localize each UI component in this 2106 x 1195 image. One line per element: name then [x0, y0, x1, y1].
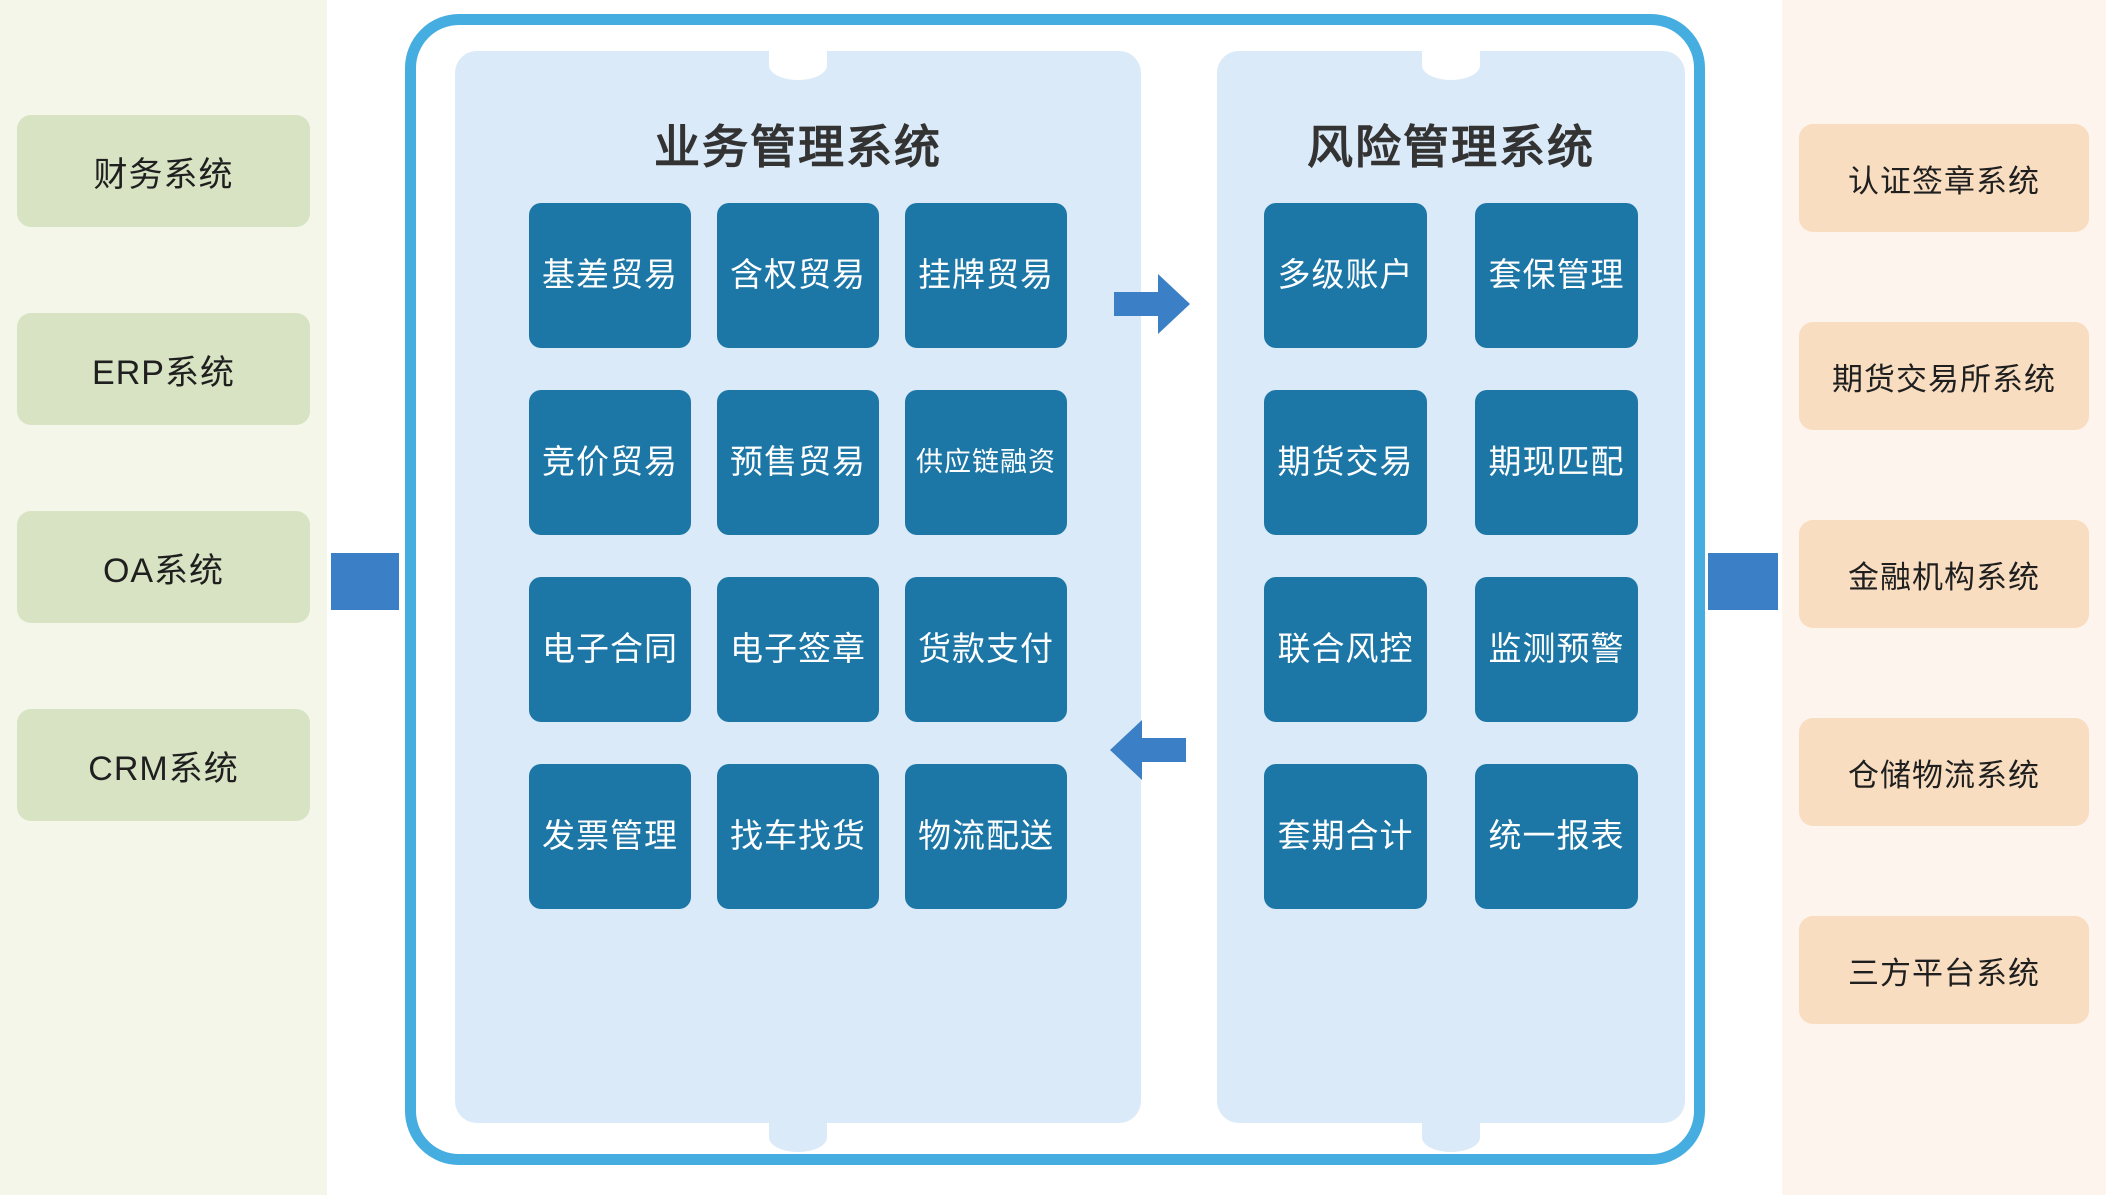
business-tile-2[interactable]: 含权贸易 [717, 203, 879, 348]
left-system-label-3: OA系统 [103, 543, 224, 592]
business-tile-grid: 基差贸易 含权贸易 挂牌贸易 竞价贸易 预售贸易 供应链融资 电子合同 电子签章… [455, 203, 1141, 951]
business-tile-4[interactable]: 竞价贸易 [529, 390, 691, 535]
left-system-card-1[interactable]: 财务系统 [17, 115, 310, 227]
business-tile-10[interactable]: 发票管理 [529, 764, 691, 909]
arrow-left-icon [1110, 718, 1186, 782]
panel-top-notch-business [769, 51, 827, 80]
business-tile-7[interactable]: 电子合同 [529, 577, 691, 722]
risk-tile-label-7: 套期合计 [1278, 818, 1414, 854]
panel-bottom-bump-business [769, 1123, 827, 1152]
business-management-panel: 业务管理系统 基差贸易 含权贸易 挂牌贸易 竞价贸易 预售贸易 供应链融资 电子… [455, 51, 1141, 1123]
risk-tile-1[interactable]: 多级账户 [1264, 203, 1427, 348]
risk-tile-label-8: 统一报表 [1489, 818, 1625, 854]
right-system-card-5[interactable]: 三方平台系统 [1799, 916, 2089, 1024]
right-system-card-2[interactable]: 期货交易所系统 [1799, 322, 2089, 430]
left-system-card-4[interactable]: CRM系统 [17, 709, 310, 821]
platform-frame: 业务管理系统 基差贸易 含权贸易 挂牌贸易 竞价贸易 预售贸易 供应链融资 电子… [405, 14, 1705, 1165]
left-system-card-3[interactable]: OA系统 [17, 511, 310, 623]
risk-tile-3[interactable]: 期货交易 [1264, 390, 1427, 535]
left-system-label-2: ERP系统 [92, 345, 235, 394]
business-tile-label-6: 供应链融资 [916, 448, 1056, 478]
left-system-label-4: CRM系统 [88, 741, 238, 790]
risk-tile-label-6: 监测预警 [1489, 631, 1625, 667]
business-tile-label-12: 物流配送 [918, 818, 1054, 854]
left-system-card-2[interactable]: ERP系统 [17, 313, 310, 425]
risk-tile-label-5: 联合风控 [1278, 631, 1414, 667]
business-tile-3[interactable]: 挂牌贸易 [905, 203, 1067, 348]
left-connector-block [331, 553, 399, 610]
right-systems-column: 认证签章系统 期货交易所系统 金融机构系统 仓储物流系统 三方平台系统 [1782, 0, 2106, 1195]
business-tile-label-8: 电子签章 [730, 631, 866, 667]
right-connector-block [1708, 553, 1778, 610]
right-system-label-3: 金融机构系统 [1848, 552, 2040, 597]
panel-top-notch-risk [1422, 51, 1480, 80]
business-tile-label-3: 挂牌贸易 [918, 257, 1054, 293]
business-tile-label-1: 基差贸易 [542, 257, 678, 293]
left-systems-column: 财务系统 ERP系统 OA系统 CRM系统 [0, 0, 327, 1195]
business-tile-9[interactable]: 货款支付 [905, 577, 1067, 722]
business-tile-label-7: 电子合同 [542, 631, 678, 667]
risk-tile-7[interactable]: 套期合计 [1264, 764, 1427, 909]
risk-management-panel: 风险管理系统 多级账户 套保管理 期货交易 期现匹配 联合风控 监测预警 套期合… [1217, 51, 1685, 1123]
risk-tile-grid: 多级账户 套保管理 期货交易 期现匹配 联合风控 监测预警 套期合计 统一报表 [1217, 203, 1685, 951]
right-system-label-2: 期货交易所系统 [1832, 354, 2056, 399]
risk-tile-4[interactable]: 期现匹配 [1475, 390, 1638, 535]
right-system-label-4: 仓储物流系统 [1848, 750, 2040, 795]
right-system-label-1: 认证签章系统 [1848, 156, 2040, 201]
business-tile-label-10: 发票管理 [542, 818, 678, 854]
right-system-card-4[interactable]: 仓储物流系统 [1799, 718, 2089, 826]
business-tile-label-9: 货款支付 [918, 631, 1054, 667]
risk-tile-label-1: 多级账户 [1278, 257, 1414, 293]
risk-tile-6[interactable]: 监测预警 [1475, 577, 1638, 722]
left-system-label-1: 财务系统 [94, 147, 234, 196]
business-tile-11[interactable]: 找车找货 [717, 764, 879, 909]
right-system-card-1[interactable]: 认证签章系统 [1799, 124, 2089, 232]
business-tile-12[interactable]: 物流配送 [905, 764, 1067, 909]
business-tile-label-4: 竞价贸易 [542, 444, 678, 480]
arrow-right-icon [1114, 272, 1190, 336]
risk-tile-5[interactable]: 联合风控 [1264, 577, 1427, 722]
risk-tile-label-3: 期货交易 [1278, 444, 1414, 480]
business-tile-5[interactable]: 预售贸易 [717, 390, 879, 535]
business-tile-label-5: 预售贸易 [730, 444, 866, 480]
right-system-label-5: 三方平台系统 [1848, 948, 2040, 993]
business-tile-1[interactable]: 基差贸易 [529, 203, 691, 348]
architecture-diagram: 财务系统 ERP系统 OA系统 CRM系统 认证签章系统 期货交易所系统 金融机… [0, 0, 2106, 1195]
right-system-card-3[interactable]: 金融机构系统 [1799, 520, 2089, 628]
business-tile-6[interactable]: 供应链融资 [905, 390, 1067, 535]
panel-bottom-bump-risk [1422, 1123, 1480, 1152]
business-tile-label-2: 含权贸易 [730, 257, 866, 293]
risk-tile-2[interactable]: 套保管理 [1475, 203, 1638, 348]
risk-tile-label-2: 套保管理 [1489, 257, 1625, 293]
risk-panel-title: 风险管理系统 [1217, 111, 1685, 177]
risk-tile-8[interactable]: 统一报表 [1475, 764, 1638, 909]
business-panel-title: 业务管理系统 [455, 111, 1141, 177]
business-tile-8[interactable]: 电子签章 [717, 577, 879, 722]
risk-tile-label-4: 期现匹配 [1489, 444, 1625, 480]
business-tile-label-11: 找车找货 [730, 818, 866, 854]
